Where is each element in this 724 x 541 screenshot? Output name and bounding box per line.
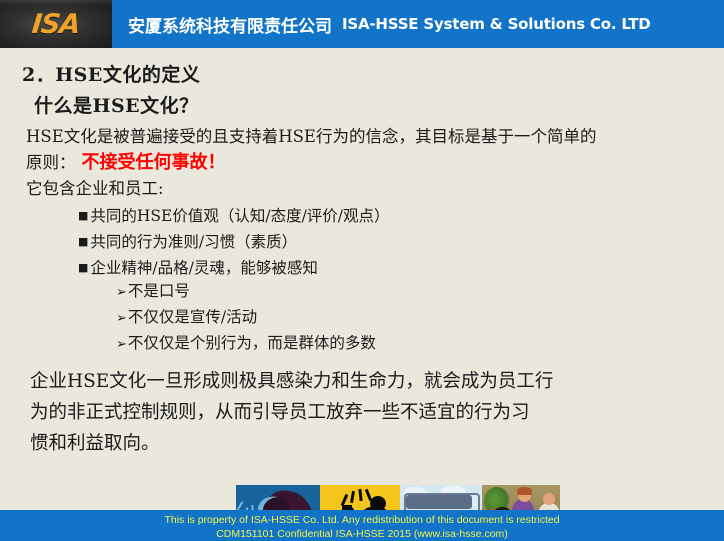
footer-confidential-line: CDM151101 Confidential ISA-HSSE 2015 (ww… (0, 527, 724, 541)
list-item-label: 共同的HSE价值观（认知/态度/评价/观点） (90, 207, 389, 225)
arrow-bullet-icon: ➢ (116, 285, 127, 300)
page-subtitle: 什么是HSE文化？ (34, 91, 199, 118)
list-item-label: 不是口号 (128, 282, 190, 300)
square-bullet-icon: ■ (78, 261, 88, 274)
cart-top-lid (406, 495, 472, 509)
person-hair (517, 487, 532, 495)
definition-line-1: HSE文化是被普遍接受的且支持着HSE行为的信念，其目标是基于一个简单的 (26, 124, 710, 150)
principle-label: 原则： (26, 153, 76, 172)
list-item-label: 不仅仅是个别行为，而是群体的多数 (128, 334, 376, 352)
arrow-bullet-icon: ➢ (116, 311, 127, 326)
company-name-cn: 安厦系统科技有限责任公司 (128, 12, 332, 37)
conclusion-line-2: 为的非正式控制规则，从而引导员工放弃一些不适宜的行为习 (30, 397, 720, 428)
list-item: ■企业精神/品格/灵魂，能够被感知 (78, 255, 390, 281)
spark-mark (350, 491, 355, 503)
definition-paragraph: HSE文化是被普遍接受的且支持着HSE行为的信念，其目标是基于一个简单的 原则：… (26, 124, 710, 202)
header-title-bar: 安厦系统科技有限责任公司 ISA-HSSE System & Solutions… (112, 0, 724, 48)
person-head (543, 493, 555, 505)
definition-line-3: 它包含企业和员工: (26, 176, 710, 202)
list-item: ➢不是口号 (116, 279, 376, 305)
list-item-label: 企业精神/品格/灵魂，能够被感知 (90, 259, 317, 277)
isa-logo-text: ISA (31, 11, 81, 38)
bullet-list: ■共同的HSE价值观（认知/态度/评价/观点） ■共同的行为准则/习惯（素质） … (78, 203, 390, 281)
conclusion-line-1: 企业HSE文化一旦形成则极具感染力和生命力，就会成为员工行 (30, 366, 720, 397)
square-bullet-icon: ■ (78, 235, 88, 248)
definition-line-2: 原则：不接受任何事故！ (26, 150, 710, 176)
spark-mark (358, 489, 362, 501)
footer-copyright-line: This is property of ISA-HSSE Co. Ltd. An… (0, 513, 724, 527)
list-item-label: 共同的行为准则/习惯（素质） (90, 233, 297, 251)
conclusion-line-3: 惯和利益取向。 (30, 428, 720, 459)
slide: ISA 安厦系统科技有限责任公司 ISA-HSSE System & Solut… (0, 0, 724, 541)
sub-bullet-list: ➢不是口号 ➢不仅仅是宣传/活动 ➢不仅仅是个别行为，而是群体的多数 (116, 279, 376, 357)
page-title: 2．HSE文化的定义 (22, 60, 200, 87)
list-item: ■共同的HSE价值观（认知/态度/评价/观点） (78, 203, 390, 229)
list-item: ■共同的行为准则/习惯（素质） (78, 229, 390, 255)
arrow-bullet-icon: ➢ (116, 337, 127, 352)
conclusion-paragraph: 企业HSE文化一旦形成则极具感染力和生命力，就会成为员工行 为的非正式控制规则，… (30, 366, 720, 459)
principle-emphasis: 不接受任何事故！ (82, 152, 226, 173)
list-item: ➢不仅仅是个别行为，而是群体的多数 (116, 331, 376, 357)
spark-mark (365, 489, 372, 501)
slide-header: ISA 安厦系统科技有限责任公司 ISA-HSSE System & Solut… (0, 0, 724, 48)
slide-footer: This is property of ISA-HSSE Co. Ltd. An… (0, 510, 724, 541)
company-name-en: ISA-HSSE System & Solutions Co. LTD (342, 15, 651, 33)
slide-content: 2．HSE文化的定义 什么是HSE文化？ HSE文化是被普遍接受的且支持着HSE… (0, 48, 724, 510)
square-bullet-icon: ■ (78, 209, 88, 222)
list-item: ➢不仅仅是宣传/活动 (116, 305, 376, 331)
isa-logo: ISA (0, 0, 112, 48)
list-item-label: 不仅仅是宣传/活动 (128, 308, 257, 326)
